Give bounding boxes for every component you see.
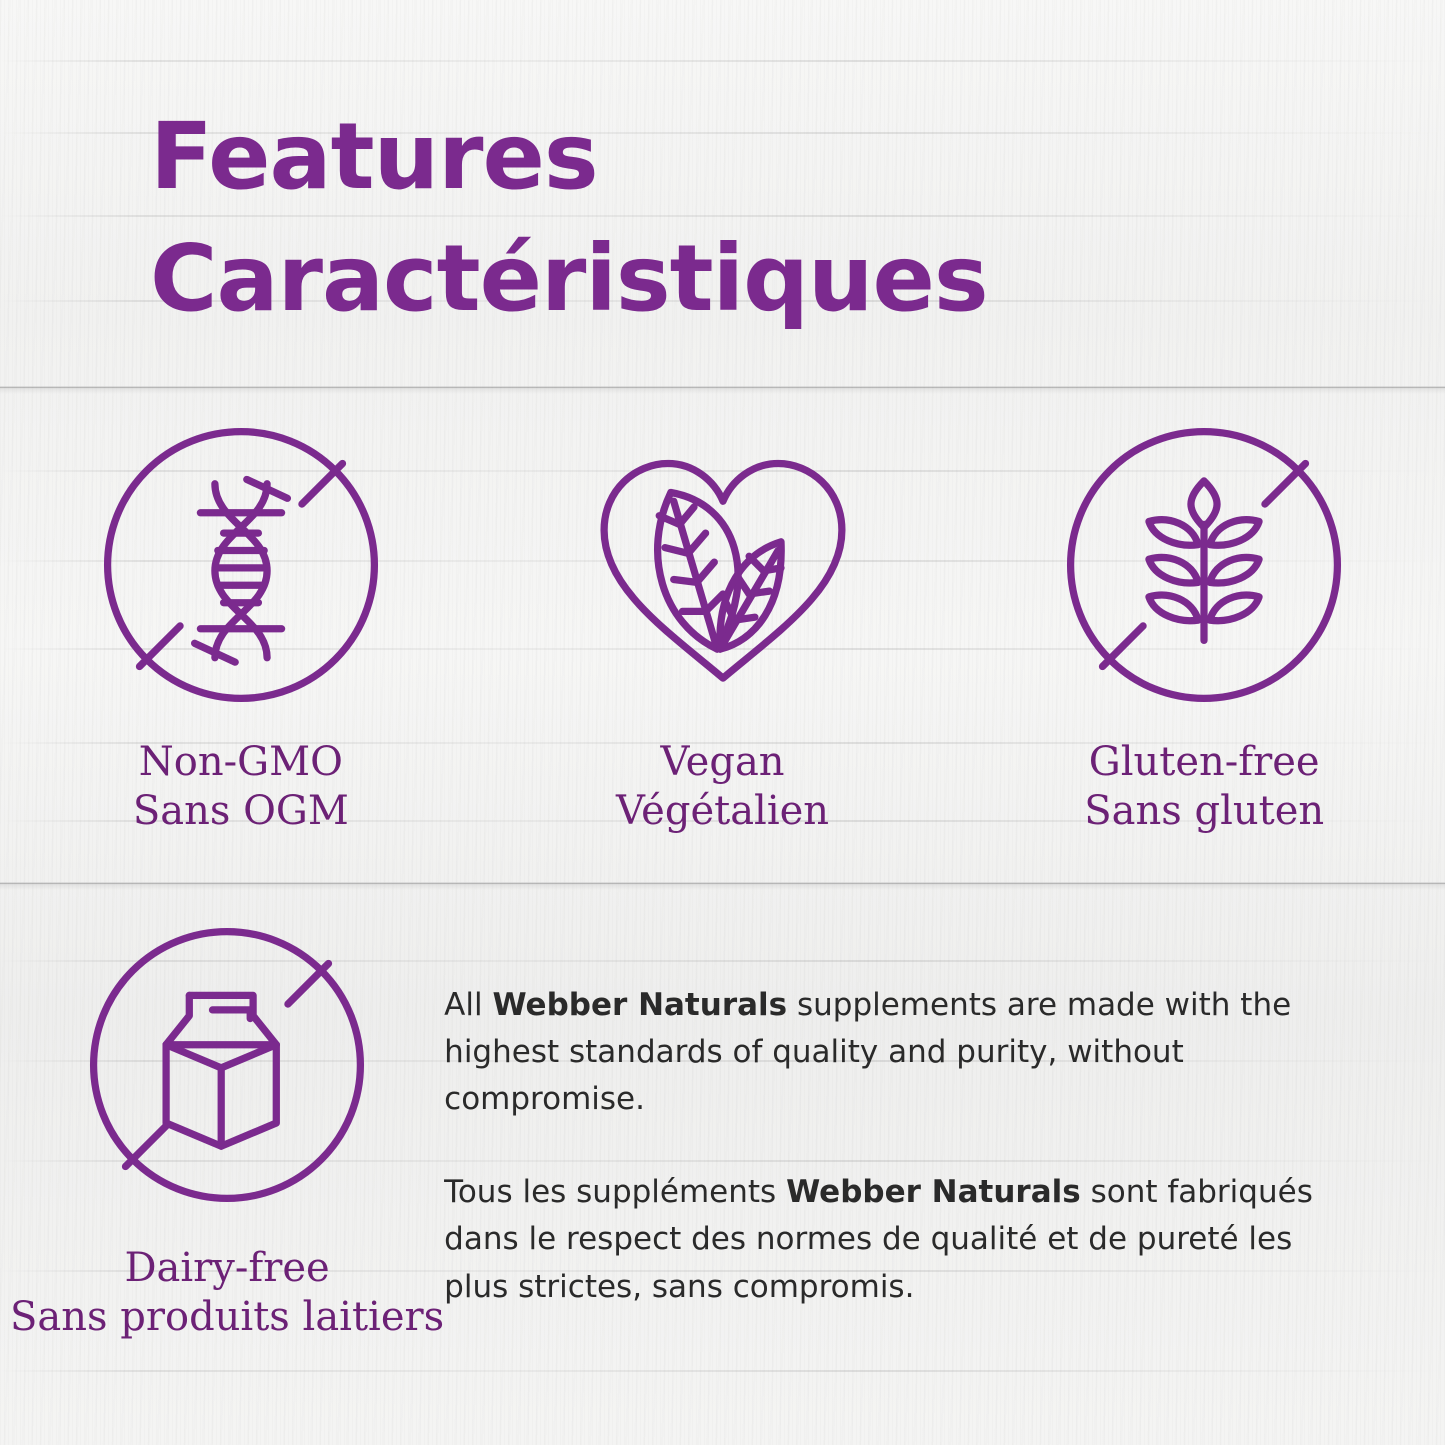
page-title-fr: Caractéristiques (150, 218, 988, 340)
brand-statement-block: All Webber Naturals supplements are made… (444, 920, 1445, 1311)
feature-vegan: Vegan Végétalien (482, 420, 964, 836)
plank-divider (0, 882, 1445, 885)
feature-label-vegan: Vegan Végétalien (616, 738, 829, 836)
wood-grain-line (0, 60, 1445, 62)
feature-non-gmo: Non-GMO Sans OGM (0, 420, 482, 836)
feature-label-en: Gluten-free (1084, 738, 1324, 787)
feature-label-fr: Sans OGM (133, 787, 349, 836)
plank-divider (0, 386, 1445, 389)
feature-label-fr: Sans produits laitiers (10, 1293, 444, 1342)
wood-background-panel: Features Caractéristiques (0, 0, 1445, 1445)
feature-label-fr: Végétalien (616, 787, 829, 836)
page-title-en: Features (150, 103, 598, 210)
brand-statement-fr-part1: Tous les suppléments (444, 1174, 786, 1210)
page-title: Features Caractéristiques (150, 96, 988, 341)
features-row-top: Non-GMO Sans OGM (0, 420, 1445, 836)
wood-grain-line (0, 1370, 1445, 1372)
no-gluten-wheat-icon (1059, 420, 1349, 710)
no-gmo-dna-icon (96, 420, 386, 710)
brand-statement-en: All Webber Naturals supplements are made… (444, 982, 1325, 1123)
features-row-bottom: Dairy-free Sans produits laitiers All We… (0, 920, 1445, 1342)
brand-name-en: Webber Naturals (492, 987, 787, 1023)
feature-label-fr: Sans gluten (1084, 787, 1324, 836)
vegan-heart-leaves-icon (578, 420, 868, 710)
brand-statement-fr: Tous les suppléments Webber Naturals son… (444, 1169, 1325, 1310)
feature-label-gluten-free: Gluten-free Sans gluten (1084, 738, 1324, 836)
feature-label-en: Dairy-free (10, 1244, 444, 1293)
feature-label-en: Non-GMO (133, 738, 349, 787)
feature-label-non-gmo: Non-GMO Sans OGM (133, 738, 349, 836)
feature-label-dairy-free: Dairy-free Sans produits laitiers (10, 1244, 444, 1342)
no-dairy-milk-carton-icon (82, 920, 372, 1210)
feature-dairy-free: Dairy-free Sans produits laitiers (0, 920, 444, 1342)
feature-label-en: Vegan (616, 738, 829, 787)
feature-gluten-free: Gluten-free Sans gluten (963, 420, 1445, 836)
brand-statement-en-part1: All (444, 987, 492, 1023)
brand-name-fr: Webber Naturals (786, 1174, 1081, 1210)
